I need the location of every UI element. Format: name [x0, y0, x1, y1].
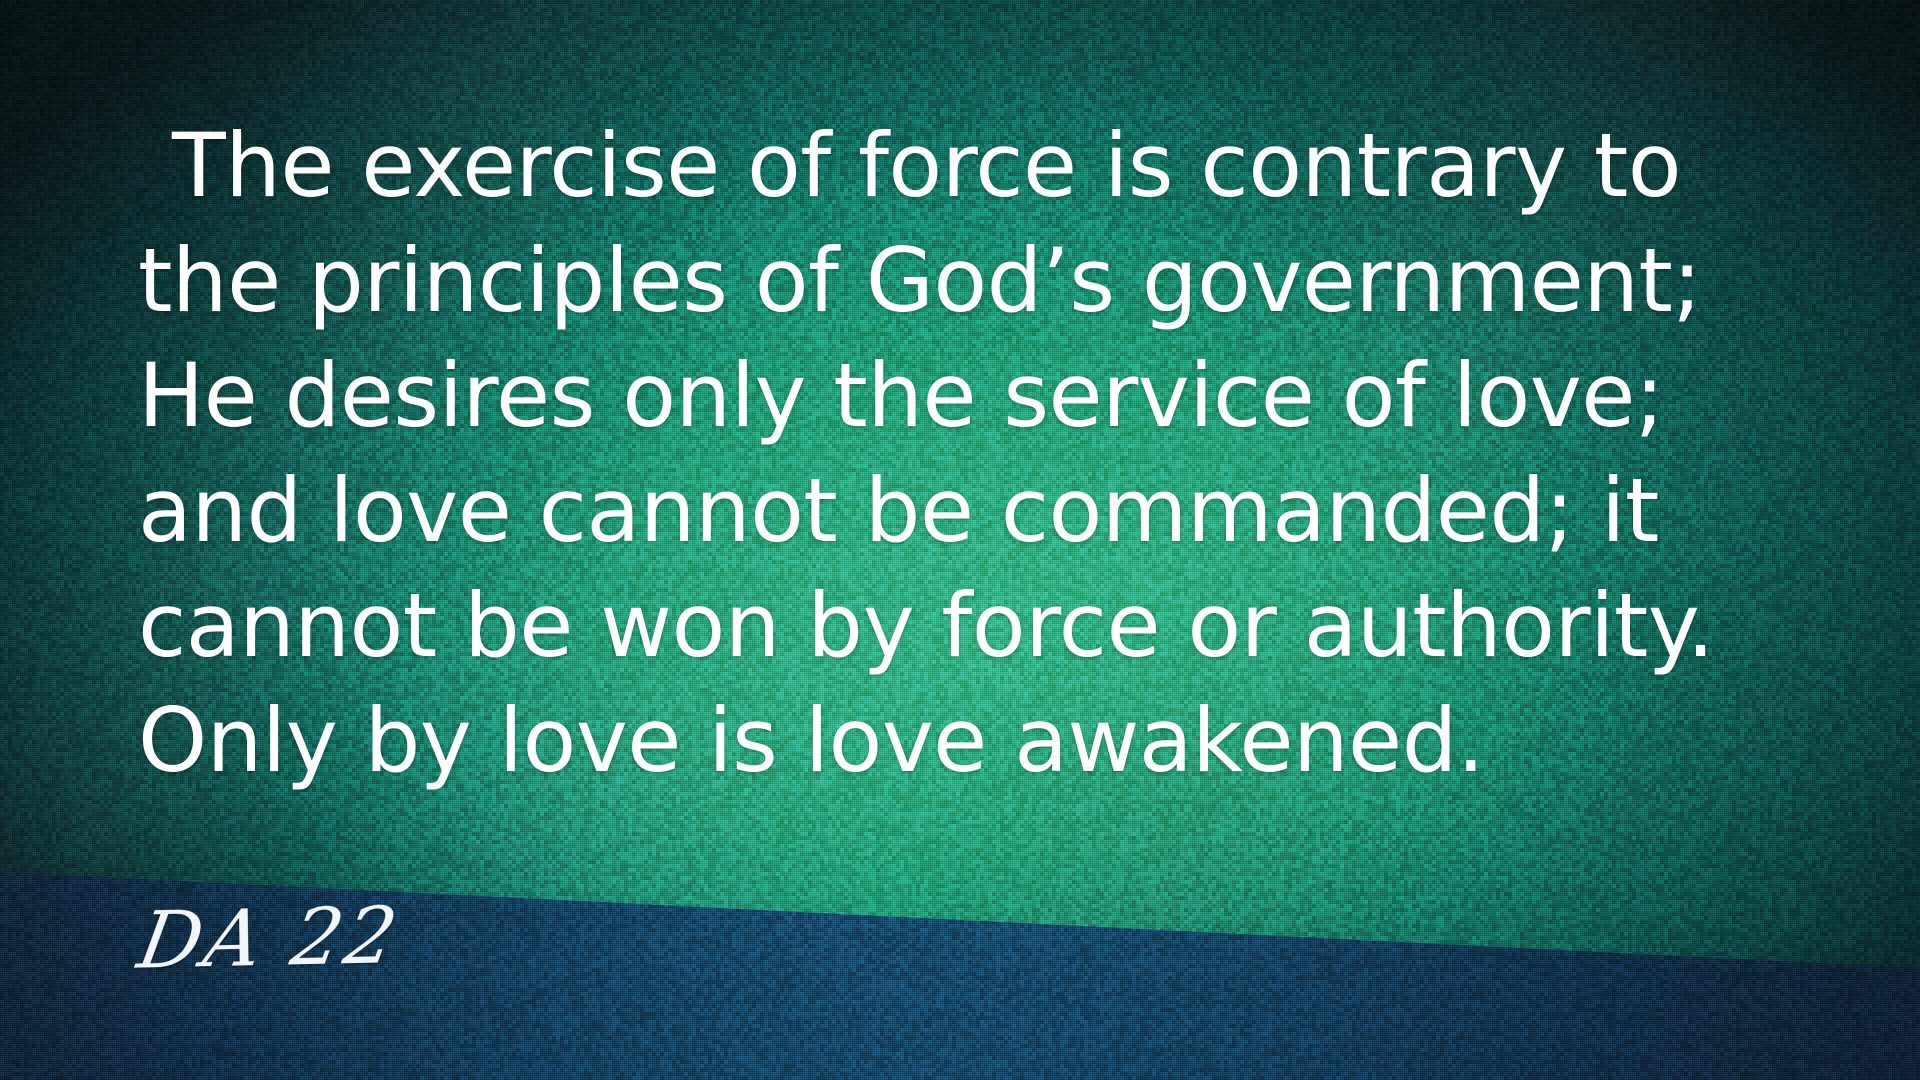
quote-slide: The exercise of force is contrary to the…: [0, 0, 1920, 1080]
quote-line-6: Only by love is love awakened.: [138, 683, 1898, 798]
citation-reference: DA 22: [132, 893, 406, 984]
quote-line-3: He desires only the service of love;: [138, 338, 1898, 453]
quote-line-1: The exercise of force is contrary to: [138, 108, 1898, 223]
quote-line-5: cannot be won by force or authority.: [138, 568, 1898, 683]
quote-text-block: The exercise of force is contrary to the…: [138, 108, 1898, 798]
quote-line-2: the principles of God’s government;: [138, 223, 1898, 338]
quote-line-4: and love cannot be commanded; it: [138, 453, 1898, 568]
